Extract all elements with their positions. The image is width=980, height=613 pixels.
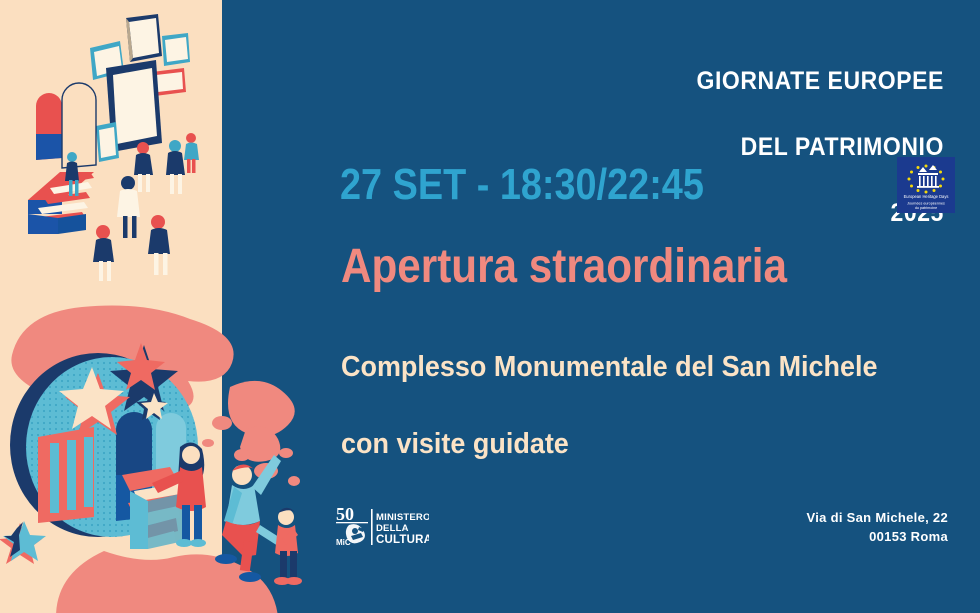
header-line-1: GIORNATE EUROPEE <box>697 65 944 98</box>
event-subtitle-line-2: con visite guidate <box>341 425 878 463</box>
event-poster: GIORNATE EUROPEE DEL PATRIMONIO 2025 <box>0 0 980 613</box>
museum-gallery-illustration <box>0 0 240 310</box>
event-subtitle-line-1: Complesso Monumentale del San Michele <box>341 348 878 386</box>
address-street: Via di San Michele, 22 <box>807 509 948 528</box>
poster-header: GIORNATE EUROPEE DEL PATRIMONIO 2025 <box>697 32 944 263</box>
eu-logo-title-fr: Journées européennes <box>907 202 945 206</box>
event-date-time: 27 SET - 18:30/22:45 <box>340 163 704 207</box>
mic-mark-label: MiC <box>336 538 351 547</box>
venue-address: Via di San Michele, 22 00153 Roma <box>807 509 948 547</box>
ministero-della-cultura-icon: 50 MiC MINISTERO DELLA CULTURA <box>333 503 429 549</box>
ministry-line-1: MINISTERO <box>376 512 429 523</box>
event-title: Apertura straordinaria <box>341 243 787 291</box>
eu-logo-title-en: European Heritage Days <box>904 194 949 199</box>
event-subtitle: Complesso Monumentale del San Michele co… <box>341 310 878 501</box>
address-city: 00153 Roma <box>807 528 948 547</box>
monument-illustration <box>0 295 334 613</box>
ministry-line-2: DELLA <box>376 523 409 534</box>
eu-logo-title-fr2: du patrimoine <box>915 206 937 210</box>
ministry-line-3: CULTURA <box>376 534 429 546</box>
mic-anniversary-number: 50 <box>336 504 354 524</box>
european-heritage-days-icon: European Heritage Days Journées européen… <box>897 157 955 213</box>
